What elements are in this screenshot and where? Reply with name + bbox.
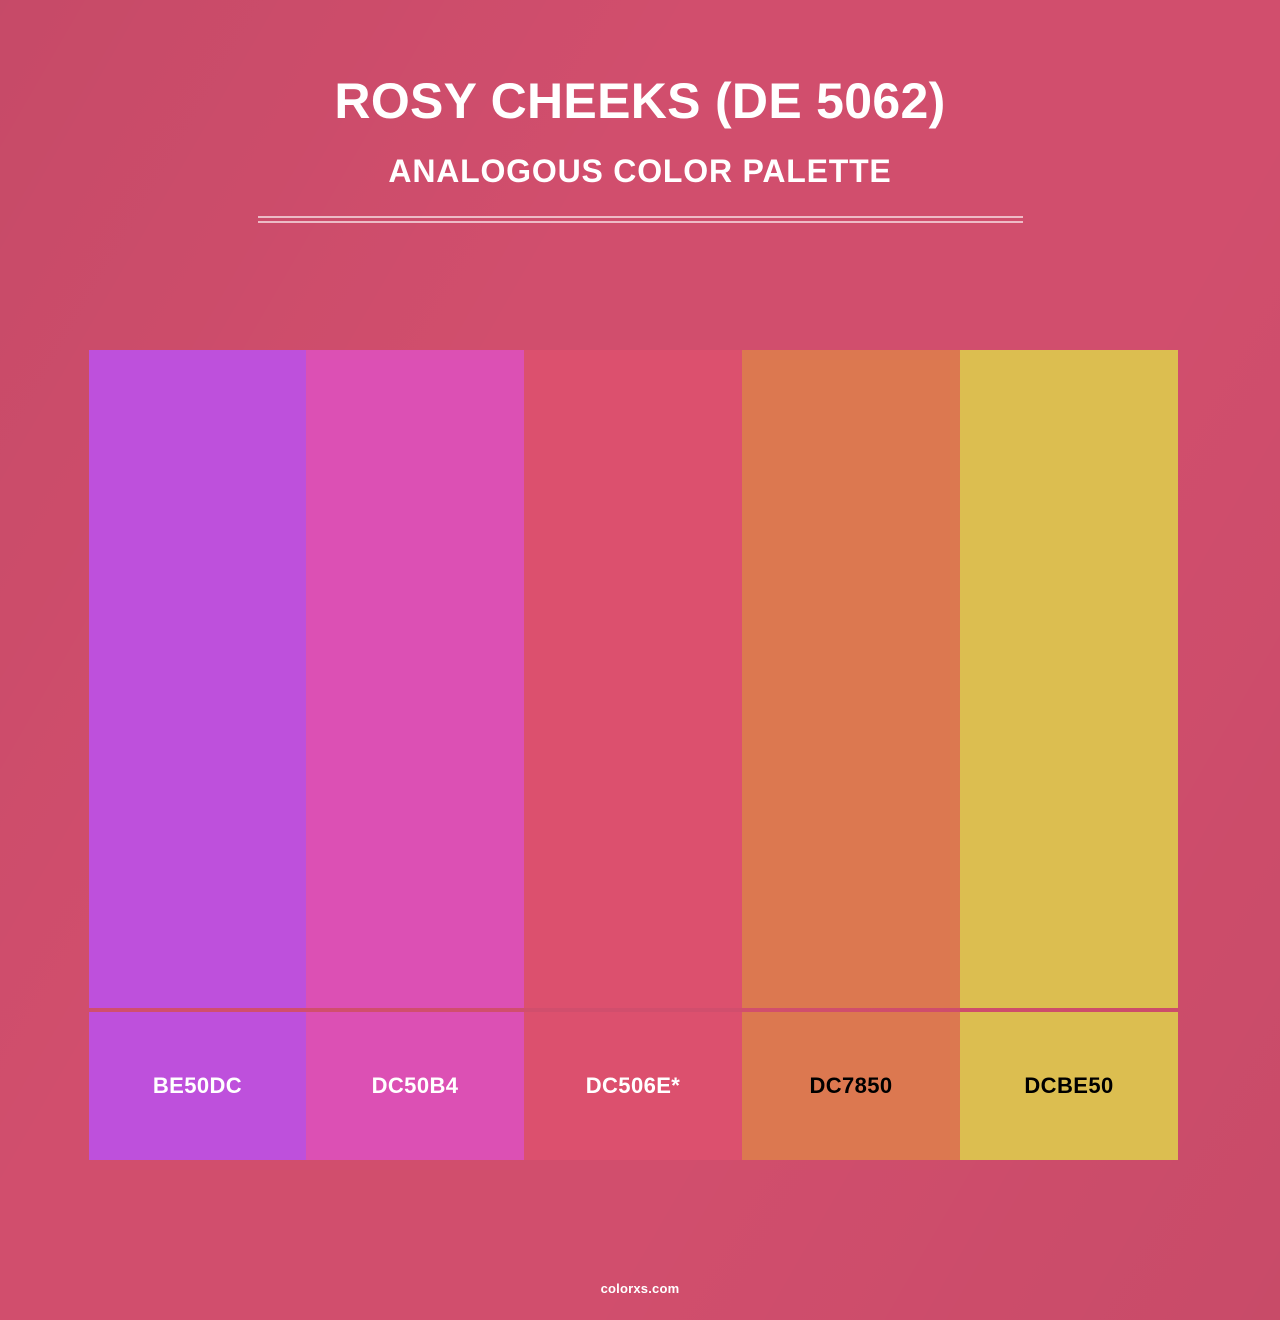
page-header: ROSY CHEEKS (DE 5062) ANALOGOUS COLOR PA… <box>0 0 1280 223</box>
color-hex-label: DCBE50 <box>1024 1073 1113 1099</box>
color-swatch[interactable] <box>89 350 306 1008</box>
color-hex-label: DC7850 <box>809 1073 892 1099</box>
color-hex-label: DC506E* <box>586 1073 681 1099</box>
color-swatch[interactable] <box>306 350 524 1008</box>
color-swatch[interactable] <box>742 350 960 1008</box>
color-swatch-label-cell[interactable]: DC506E* <box>524 1012 742 1160</box>
color-hex-label: BE50DC <box>153 1073 242 1099</box>
page-title: ROSY CHEEKS (DE 5062) <box>0 0 1280 130</box>
divider-line-top <box>258 216 1023 218</box>
site-watermark: colorxs.com <box>601 1281 680 1296</box>
color-swatch[interactable] <box>960 350 1178 1008</box>
swatch-label-row: BE50DC DC50B4 DC506E* DC7850 DCBE50 <box>89 1012 1178 1160</box>
color-hex-label: DC50B4 <box>372 1073 459 1099</box>
color-swatch-label-cell[interactable]: DCBE50 <box>960 1012 1178 1160</box>
page-subtitle: ANALOGOUS COLOR PALETTE <box>0 130 1280 190</box>
color-palette: BE50DC DC50B4 DC506E* DC7850 DCBE50 <box>89 350 1178 1160</box>
divider-line-bottom <box>258 221 1023 223</box>
color-swatch-label-cell[interactable]: DC50B4 <box>306 1012 524 1160</box>
page-footer: colorxs.com <box>0 1280 1280 1298</box>
color-swatch-label-cell[interactable]: BE50DC <box>89 1012 306 1160</box>
palette-page: ROSY CHEEKS (DE 5062) ANALOGOUS COLOR PA… <box>0 0 1280 1320</box>
swatch-row <box>89 350 1178 1008</box>
color-swatch-label-cell[interactable]: DC7850 <box>742 1012 960 1160</box>
header-divider <box>258 216 1023 223</box>
color-swatch[interactable] <box>524 350 742 1008</box>
